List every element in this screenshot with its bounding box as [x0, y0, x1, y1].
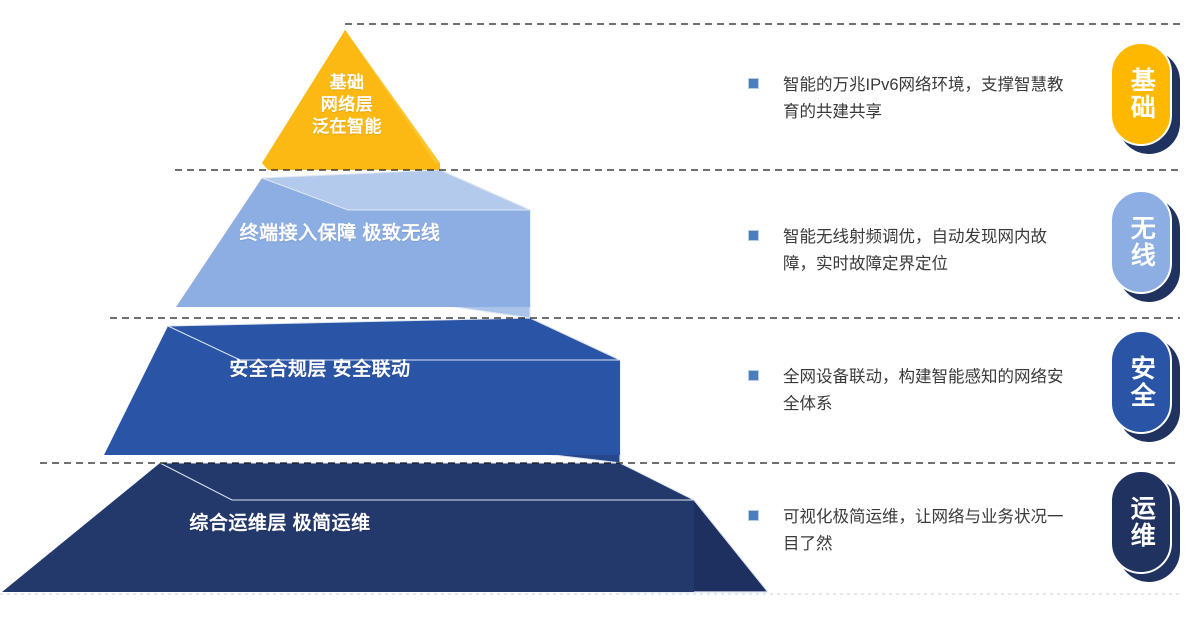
badge-security[interactable]: 安全	[1110, 330, 1184, 440]
badge-label-foundation: 基础	[1128, 67, 1155, 121]
description-row-wireless: 智能无线射频调优，自动发现网内故障，实时故障定界定位	[748, 224, 1078, 277]
pyramid-layer-wireless[interactable]	[176, 170, 530, 318]
bullet-square-icon	[748, 370, 759, 381]
badge-label-operations: 运维	[1128, 495, 1155, 549]
description-text-security: 全网设备联动，构建智能感知的网络安全体系	[783, 364, 1078, 417]
pyramid-layer-operations[interactable]	[2, 463, 768, 592]
badge-pill[interactable]: 运维	[1110, 470, 1172, 574]
description-text-foundation: 智能的万兆IPv6网络环境，支撑智慧教育的共建共享	[783, 72, 1078, 125]
badge-pill[interactable]: 基础	[1110, 42, 1172, 146]
badge-label-wireless: 无线	[1128, 215, 1155, 269]
badge-foundation[interactable]: 基础	[1110, 42, 1184, 152]
badge-pill[interactable]: 无线	[1110, 190, 1172, 294]
description-row-operations: 可视化极简运维，让网络与业务状况一目了然	[748, 504, 1078, 557]
description-row-foundation: 智能的万兆IPv6网络环境，支撑智慧教育的共建共享	[748, 72, 1078, 125]
pyramid-diagram-canvas: 基础 网络层 泛在智能 终端接入保障 极致无线 安全合规层 安全联动 综合运维层…	[0, 0, 1200, 620]
pyramid-layer-foundation[interactable]	[262, 30, 440, 170]
badge-operations[interactable]: 运维	[1110, 470, 1184, 580]
layer-foundation-front-face	[262, 30, 440, 163]
bullet-square-icon	[748, 78, 759, 89]
badge-pill[interactable]: 安全	[1110, 330, 1172, 434]
badge-wireless[interactable]: 无线	[1110, 190, 1184, 300]
bullet-square-icon	[748, 230, 759, 241]
description-row-security: 全网设备联动，构建智能感知的网络安全体系	[748, 364, 1078, 417]
description-text-operations: 可视化极简运维，让网络与业务状况一目了然	[783, 504, 1078, 557]
layer-operations-top-face	[160, 463, 694, 500]
badge-label-security: 安全	[1128, 355, 1155, 409]
layer-security-top-face	[168, 318, 620, 360]
description-text-wireless: 智能无线射频调优，自动发现网内故障，实时故障定界定位	[783, 224, 1078, 277]
layer-foundation-base-sliver	[262, 163, 440, 170]
bullet-square-icon	[748, 510, 759, 521]
pyramid-layer-security[interactable]	[104, 318, 620, 463]
